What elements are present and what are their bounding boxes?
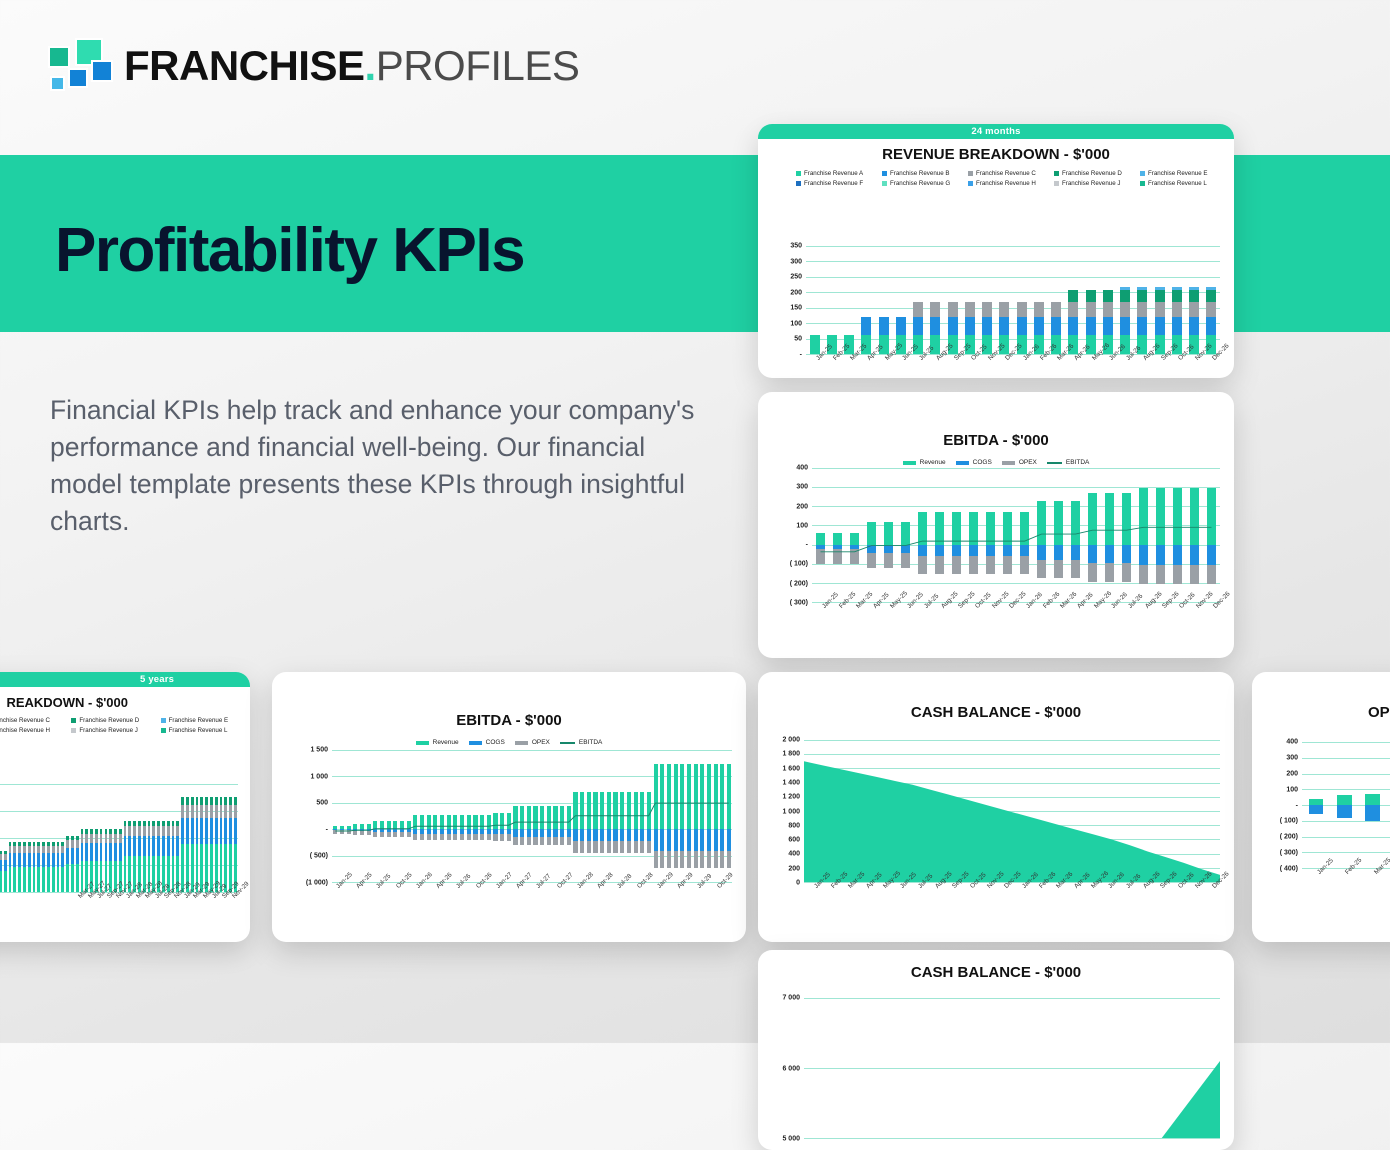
bar-column	[1203, 246, 1220, 354]
bar-segment	[105, 843, 108, 861]
bar-group	[1302, 742, 1390, 868]
bar-segment	[109, 843, 112, 861]
bar-segment	[66, 840, 69, 848]
logo-word-bold: FRANCHISE	[124, 42, 365, 89]
bar-segment	[186, 818, 189, 845]
bar-segment	[71, 864, 74, 892]
bar-segment	[100, 834, 103, 843]
legend-item: Franchise Revenue B	[882, 170, 968, 177]
bar-segment	[124, 826, 127, 836]
legend-label: Franchise Revenue H	[0, 727, 50, 734]
legend-item: Franchise Revenue F	[796, 180, 882, 187]
bar-segment	[191, 797, 194, 805]
legend-label: Franchise Revenue C	[0, 717, 50, 724]
bar-segment	[224, 805, 227, 818]
legend-item: Franchise Revenue D	[71, 717, 160, 724]
bar-segment	[28, 853, 31, 867]
bar-segment	[13, 867, 16, 892]
bar-segment	[81, 843, 84, 861]
bar-segment	[90, 834, 93, 843]
logo-squares-icon	[48, 38, 110, 94]
bar-column	[1134, 246, 1151, 354]
y-axis-tick: ( 100)	[1280, 818, 1298, 825]
bar-column	[841, 246, 858, 354]
bar-segment	[143, 826, 146, 836]
y-axis-tick: 1 800	[782, 751, 800, 758]
bar-segment	[1103, 290, 1113, 302]
bar-segment	[119, 834, 122, 843]
bar-segment	[114, 843, 117, 861]
bar-segment	[1017, 317, 1027, 335]
bar-column	[1117, 246, 1134, 354]
y-axis-tick: 50	[794, 336, 802, 343]
bar-segment	[162, 836, 165, 856]
y-axis-tick: 300	[790, 258, 802, 265]
cash-area	[804, 740, 1220, 882]
bar-segment	[37, 853, 40, 867]
y-axis-tick: 400	[788, 851, 800, 858]
card-revenue-breakdown-5y[interactable]: 5 years REAKDOWN - $'000 Franchise Reven…	[0, 672, 250, 942]
bar-segment	[1172, 317, 1182, 335]
legend-swatch	[71, 718, 76, 723]
legend-ebitda-24m: RevenueCOGSOPEXEBITDA	[758, 459, 1234, 466]
legend-label: Franchise Revenue B	[890, 170, 950, 177]
legend-revenue-5y: Franchise Revenue CFranchise Revenue DFr…	[0, 717, 250, 734]
y-axis-tick: ( 500)	[310, 853, 328, 860]
plot-ebitda-24m: 400300200100-( 100)( 200)( 300) Jan-25Fe…	[812, 468, 1220, 602]
legend-label: OPEX	[1019, 459, 1037, 466]
brand-logo: FRANCHISE.PROFILES	[48, 38, 579, 94]
legend-item: Franchise Revenue J	[1054, 180, 1140, 187]
bar-segment	[18, 846, 21, 853]
legend-label: EBITDA	[1066, 459, 1089, 466]
logo-wordmark: FRANCHISE.PROFILES	[124, 42, 579, 90]
bar-segment	[999, 302, 1009, 317]
bar-segment	[23, 846, 26, 853]
bar-segment	[176, 826, 179, 836]
legend-label: Franchise Revenue E	[169, 717, 229, 724]
bar-segment	[205, 818, 208, 845]
legend-swatch	[515, 741, 528, 745]
legend-swatch	[1054, 171, 1059, 176]
y-axis-tick: 5 000	[782, 1136, 800, 1143]
bar-segment	[1051, 302, 1061, 317]
legend-label: Franchise Revenue H	[976, 180, 1036, 187]
bar-segment	[42, 846, 45, 853]
bar-column	[1099, 246, 1116, 354]
legend-swatch	[956, 461, 969, 465]
bar-segment	[33, 867, 36, 892]
bar-segment	[1120, 290, 1130, 302]
legend-label: Franchise Revenue G	[890, 180, 950, 187]
y-axis-tick: ( 200)	[1280, 834, 1298, 841]
bar-segment	[1086, 290, 1096, 302]
bar-segment	[47, 867, 50, 892]
bar-segment	[220, 818, 223, 845]
bar-segment	[61, 846, 64, 853]
bar-segment	[148, 836, 151, 856]
bar-segment	[1137, 302, 1147, 317]
bar-column	[875, 246, 892, 354]
bar-segment	[4, 860, 7, 871]
legend-revenue-24m: Franchise Revenue AFranchise Revenue BFr…	[796, 170, 1226, 187]
bar-segment	[1086, 302, 1096, 317]
y-axis-tick: 6 000	[782, 1065, 800, 1072]
bar-column	[1048, 246, 1065, 354]
card-opex[interactable]: OPE 400300200100-( 100)( 200)( 300)( 400…	[1252, 672, 1390, 942]
y-axis-tick: 800	[788, 822, 800, 829]
legend-label: Franchise Revenue C	[976, 170, 1036, 177]
bar-segment	[1068, 317, 1078, 335]
bar-segment	[167, 826, 170, 836]
y-axis-tick: 250	[790, 274, 802, 281]
bar-segment	[1189, 302, 1199, 317]
logo-dot: .	[365, 42, 376, 89]
legend-item: Franchise Revenue H	[0, 727, 71, 734]
bar-segment	[128, 826, 131, 836]
bar-segment	[57, 867, 60, 892]
bar-segment	[224, 797, 227, 805]
bar-segment	[37, 846, 40, 853]
bar-segment	[965, 302, 975, 317]
legend-item: Revenue	[416, 739, 459, 746]
legend-label: Franchise Revenue A	[804, 170, 863, 177]
bar-segment	[948, 302, 958, 317]
card-cash-balance-24m[interactable]: CASH BALANCE - $'000 2 0001 8001 6001 40…	[758, 672, 1234, 942]
bar-column	[927, 246, 944, 354]
legend-swatch	[882, 171, 887, 176]
legend-swatch	[882, 181, 887, 186]
bar-segment	[133, 836, 136, 856]
bar-segment	[37, 867, 40, 892]
plot-cash-24m: 2 0001 8001 6001 4001 2001 0008006004002…	[804, 740, 1220, 882]
bar-segment	[13, 846, 16, 853]
legend-item: Franchise Revenue G	[882, 180, 968, 187]
y-axis-tick: ( 300)	[1280, 850, 1298, 857]
y-axis-tick: 1 000	[310, 773, 328, 780]
bar-segment	[128, 836, 131, 856]
bar-segment	[61, 853, 64, 867]
bar-segment	[1206, 290, 1216, 302]
bar-segment	[152, 826, 155, 836]
bar-segment	[81, 834, 84, 843]
bar-segment	[982, 302, 992, 317]
bar-segment	[224, 818, 227, 845]
bar-segment	[57, 846, 60, 853]
bar-segment	[28, 846, 31, 853]
bar-segment	[1309, 805, 1324, 814]
y-axis-tick: -	[806, 542, 808, 549]
bar-segment	[18, 853, 21, 867]
legend-swatch	[903, 461, 916, 465]
bar-column	[996, 246, 1013, 354]
bar-segment	[133, 826, 136, 836]
bar-segment	[210, 805, 213, 818]
y-axis-tick: -	[326, 826, 328, 833]
y-axis-tick: 400	[1286, 739, 1298, 746]
legend-swatch	[968, 171, 973, 176]
bar-segment	[76, 864, 79, 892]
bar-segment	[181, 797, 184, 805]
legend-label: Franchise Revenue L	[1148, 180, 1207, 187]
bar-group	[0, 784, 238, 892]
bar-column	[1168, 246, 1185, 354]
gridline: 5 000	[804, 1138, 1220, 1139]
bar-column	[858, 246, 875, 354]
legend-label: COGS	[486, 739, 505, 746]
y-axis-tick: 1 000	[782, 808, 800, 815]
bar-segment	[1017, 302, 1027, 317]
bar-segment	[52, 846, 55, 853]
bar-group	[806, 246, 1220, 354]
bar-segment	[47, 853, 50, 867]
bar-segment	[200, 818, 203, 845]
plot-opex: 400300200100-( 100)( 200)( 300)( 400) Ja…	[1302, 742, 1390, 868]
card-strip-label-5y: 5 years	[0, 672, 250, 687]
bar-segment	[879, 317, 889, 335]
legend-item: Franchise Revenue H	[968, 180, 1054, 187]
bar-segment	[1103, 317, 1113, 335]
bar-segment	[234, 818, 237, 845]
legend-item: Franchise Revenue L	[161, 727, 250, 734]
legend-item: Franchise Revenue C	[0, 717, 71, 724]
y-axis-tick: ( 100)	[790, 561, 808, 568]
legend-label: Franchise Revenue D	[1062, 170, 1122, 177]
bar-segment	[143, 836, 146, 856]
bar-segment	[1206, 317, 1216, 335]
legend-swatch	[560, 742, 575, 744]
bar-segment	[229, 805, 232, 818]
bar-column	[1330, 742, 1358, 868]
card-revenue-breakdown-24m[interactable]: 24 months REVENUE BREAKDOWN - $'000 Fran…	[758, 124, 1234, 378]
legend-swatch	[161, 718, 166, 723]
bar-column	[979, 246, 996, 354]
legend-item: Franchise Revenue A	[796, 170, 882, 177]
bar-segment	[913, 302, 923, 317]
y-axis-tick: 200	[788, 865, 800, 872]
bar-segment	[220, 805, 223, 818]
bar-segment	[157, 836, 160, 856]
plot-revenue-5y: Mar-27May-27Jul-27Sep-27Nov-27Jan-28Mar-…	[0, 784, 238, 892]
bar-segment	[205, 805, 208, 818]
bar-segment	[100, 843, 103, 861]
legend-item: Revenue	[903, 459, 946, 466]
bar-segment	[138, 826, 141, 836]
bar-segment	[76, 840, 79, 848]
bar-segment	[119, 843, 122, 861]
legend-item: COGS	[956, 459, 992, 466]
legend-swatch	[796, 171, 801, 176]
bar-column	[944, 246, 961, 354]
plot-cash-5y: 7 0006 0005 000	[804, 998, 1220, 1138]
bar-segment	[215, 797, 218, 805]
legend-swatch	[71, 728, 76, 733]
intro-paragraph: Financial KPIs help track and enhance yo…	[50, 392, 710, 540]
y-axis-tick: 300	[796, 484, 808, 491]
legend-label: Franchise Revenue F	[804, 180, 863, 187]
bar-segment	[105, 834, 108, 843]
y-axis-tick: 350	[790, 243, 802, 250]
chart-title-cash-24m: CASH BALANCE - $'000	[758, 704, 1234, 721]
y-axis-tick: 1 600	[782, 765, 800, 772]
bar-segment	[28, 867, 31, 892]
y-axis-tick: 400	[796, 465, 808, 472]
bar-segment	[57, 853, 60, 867]
bar-segment	[172, 836, 175, 856]
bar-segment	[913, 317, 923, 335]
bar-segment	[229, 818, 232, 845]
bar-segment	[162, 826, 165, 836]
bar-segment	[85, 843, 88, 861]
y-axis-tick: 100	[790, 320, 802, 327]
y-axis-tick: ( 200)	[790, 580, 808, 587]
bar-segment	[982, 317, 992, 335]
y-axis-tick: 200	[790, 289, 802, 296]
legend-label: Franchise Revenue J	[1062, 180, 1120, 187]
legend-item: Franchise Revenue E	[1140, 170, 1226, 177]
bar-segment	[1137, 290, 1147, 302]
legend-swatch	[469, 741, 482, 745]
legend-item: OPEX	[1002, 459, 1037, 466]
bar-segment	[181, 818, 184, 845]
bar-segment	[210, 818, 213, 845]
bar-segment	[186, 797, 189, 805]
bar-segment	[90, 843, 93, 861]
bar-segment	[220, 797, 223, 805]
bar-segment	[9, 867, 12, 892]
chart-title-cash-5y: CASH BALANCE - $'000	[758, 964, 1234, 981]
bar-segment	[52, 853, 55, 867]
legend-item: EBITDA	[560, 739, 602, 746]
bar-column	[961, 246, 978, 354]
bar-column	[1359, 742, 1387, 868]
y-axis-tick: 300	[1286, 754, 1298, 761]
bar-segment	[930, 302, 940, 317]
bar-segment	[1337, 795, 1352, 805]
bar-column	[910, 246, 927, 354]
bar-segment	[114, 834, 117, 843]
bar-segment	[1337, 805, 1352, 818]
bar-segment	[1068, 290, 1078, 302]
legend-item: EBITDA	[1047, 459, 1089, 466]
legend-swatch	[796, 181, 801, 186]
card-strip-label: 24 months	[758, 124, 1234, 139]
chart-title-revenue-24m: REVENUE BREAKDOWN - $'000	[758, 146, 1234, 163]
legend-swatch	[416, 741, 429, 745]
bar-column	[892, 246, 909, 354]
bar-segment	[1189, 290, 1199, 302]
bar-segment	[9, 846, 12, 853]
legend-label: Franchise Revenue L	[169, 727, 228, 734]
bar-segment	[23, 853, 26, 867]
bar-column	[1030, 246, 1047, 354]
y-axis-tick: 1 400	[782, 779, 800, 786]
bar-segment	[0, 871, 2, 892]
bar-segment	[95, 834, 98, 843]
bar-segment	[205, 797, 208, 805]
y-axis-tick: -	[800, 352, 802, 359]
bar-segment	[71, 840, 74, 848]
bar-segment	[1189, 317, 1199, 335]
bar-segment	[1155, 317, 1165, 335]
legend-label: Franchise Revenue D	[79, 717, 139, 724]
bar-segment	[229, 797, 232, 805]
plot-ebitda-5y: 1 5001 000500-( 500)(1 000) Jan-25Apr-25…	[332, 750, 732, 882]
bar-segment	[1206, 302, 1216, 317]
bar-segment	[176, 836, 179, 856]
bar-column	[1065, 246, 1082, 354]
bar-column	[1302, 742, 1330, 868]
card-ebitda-24m[interactable]: EBITDA - $'000 RevenueCOGSOPEXEBITDA 400…	[758, 392, 1234, 658]
bar-segment	[0, 860, 2, 871]
card-ebitda-5y[interactable]: EBITDA - $'000 RevenueCOGSOPEXEBITDA 1 5…	[272, 672, 746, 942]
bar-segment	[210, 797, 213, 805]
bar-segment	[1034, 317, 1044, 335]
ebitda-line	[332, 750, 732, 882]
bar-segment	[1137, 317, 1147, 335]
bar-segment	[85, 834, 88, 843]
bar-segment	[1155, 302, 1165, 317]
legend-item: OPEX	[515, 739, 550, 746]
bar-segment	[200, 797, 203, 805]
bar-segment	[42, 853, 45, 867]
bar-column	[233, 784, 238, 892]
legend-label: Revenue	[433, 739, 459, 746]
bar-column	[1082, 246, 1099, 354]
bar-segment	[948, 317, 958, 335]
bar-segment	[810, 335, 820, 354]
bar-segment	[33, 846, 36, 853]
chart-title-ebitda-5y: EBITDA - $'000	[272, 712, 746, 729]
legend-swatch	[968, 181, 973, 186]
legend-item: Franchise Revenue E	[161, 717, 250, 724]
ebitda-line	[812, 468, 1220, 602]
bar-segment	[930, 317, 940, 335]
bar-column	[806, 246, 823, 354]
legend-item: Franchise Revenue D	[1054, 170, 1140, 177]
bar-segment	[95, 843, 98, 861]
bar-segment	[23, 867, 26, 892]
bar-segment	[71, 848, 74, 864]
bar-segment	[148, 826, 151, 836]
bar-segment	[191, 818, 194, 845]
bar-segment	[76, 848, 79, 864]
chart-title-ebitda-24m: EBITDA - $'000	[758, 432, 1234, 449]
card-cash-balance-5y[interactable]: CASH BALANCE - $'000 7 0006 0005 000	[758, 950, 1234, 1150]
bar-segment	[186, 805, 189, 818]
bar-segment	[215, 805, 218, 818]
bar-segment	[999, 317, 1009, 335]
legend-label: Franchise Revenue E	[1148, 170, 1208, 177]
plot-revenue-24m: 35030025020015010050- Jan-25Feb-25Mar-25…	[806, 246, 1220, 354]
page-title: Profitability KPIs	[55, 215, 524, 286]
legend-ebitda-5y: RevenueCOGSOPEXEBITDA	[272, 739, 746, 746]
chart-title-revenue-5y: REAKDOWN - $'000	[0, 695, 250, 710]
bar-segment	[42, 867, 45, 892]
bar-segment	[234, 797, 237, 805]
legend-swatch	[1002, 461, 1015, 465]
bar-segment	[896, 317, 906, 335]
legend-item: Franchise Revenue J	[71, 727, 160, 734]
legend-swatch	[161, 728, 166, 733]
bar-segment	[9, 853, 12, 867]
legend-swatch	[1047, 462, 1062, 464]
bar-segment	[124, 836, 127, 856]
bar-segment	[1086, 317, 1096, 335]
y-axis-tick: 2 000	[782, 737, 800, 744]
bar-segment	[181, 805, 184, 818]
bar-segment	[18, 867, 21, 892]
